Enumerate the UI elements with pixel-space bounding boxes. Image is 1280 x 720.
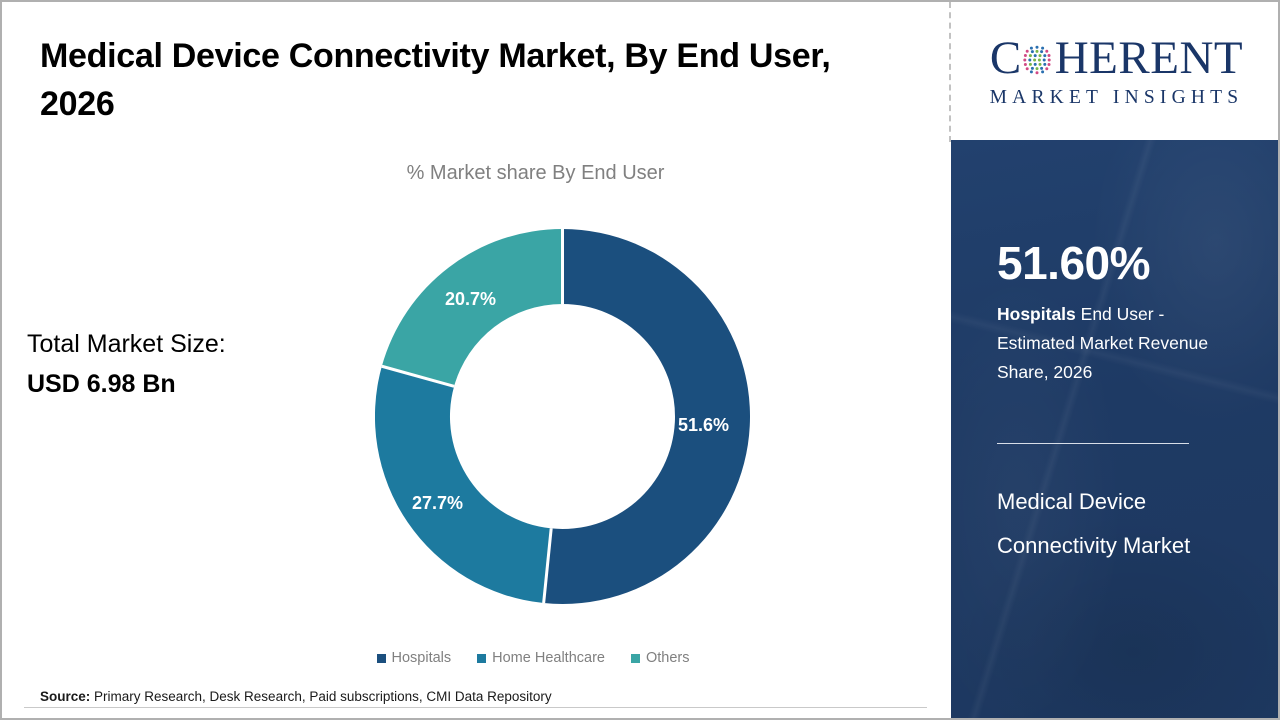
stat-segment-name: Hospitals bbox=[997, 304, 1076, 324]
source-key: Source: bbox=[40, 689, 90, 704]
legend-item-home-healthcare[interactable]: Home Healthcare bbox=[477, 650, 605, 666]
logo-letter-c: C bbox=[990, 35, 1022, 82]
source-divider bbox=[24, 707, 927, 708]
slice-value-hospitals: 51.6% bbox=[678, 415, 729, 436]
total-market-size-block: Total Market Size: USD 6.98 Bn bbox=[27, 324, 327, 404]
market-name: Medical Device Connectivity Market bbox=[997, 480, 1227, 567]
legend-label: Hospitals bbox=[392, 650, 452, 666]
side-panel-content: 51.60% Hospitals End User - Estimated Ma… bbox=[951, 240, 1280, 567]
page-title: Medical Device Connectivity Market, By E… bbox=[40, 32, 870, 129]
chart-subtitle: % Market share By End User bbox=[2, 162, 949, 185]
logo-tagline: MARKET INSIGHTS bbox=[990, 87, 1244, 109]
chart-legend: Hospitals Home Healthcare Others bbox=[2, 650, 949, 666]
headline-stat: 51.60% bbox=[997, 240, 1280, 286]
legend-item-hospitals[interactable]: Hospitals bbox=[377, 650, 452, 666]
legend-swatch-icon bbox=[377, 654, 386, 663]
logo-letters-herent: HERENT bbox=[1055, 35, 1243, 82]
legend-swatch-icon bbox=[631, 654, 640, 663]
total-market-size-value: USD 6.98 Bn bbox=[27, 364, 327, 404]
slice-value-others: 20.7% bbox=[445, 289, 496, 310]
dotted-globe-icon bbox=[1020, 43, 1054, 77]
legend-item-others[interactable]: Others bbox=[631, 650, 690, 666]
legend-swatch-icon bbox=[477, 654, 486, 663]
source-text: Primary Research, Desk Research, Paid su… bbox=[90, 689, 551, 704]
logo-wordmark: C bbox=[990, 33, 1243, 83]
chart-panel: Medical Device Connectivity Market, By E… bbox=[2, 2, 949, 720]
total-market-size-label: Total Market Size: bbox=[27, 324, 327, 364]
side-panel-body: 51.60% Hospitals End User - Estimated Ma… bbox=[951, 140, 1280, 720]
panel-divider bbox=[997, 443, 1189, 444]
donut-chart: 51.6% 27.7% 20.7% bbox=[375, 229, 750, 604]
source-note: Source: Primary Research, Desk Research,… bbox=[40, 689, 552, 704]
brand-logo[interactable]: C bbox=[951, 2, 1280, 140]
infographic-canvas: Medical Device Connectivity Market, By E… bbox=[0, 0, 1280, 720]
legend-label: Others bbox=[646, 650, 690, 666]
side-panel: C bbox=[951, 2, 1280, 720]
headline-stat-description: Hospitals End User - Estimated Market Re… bbox=[997, 300, 1217, 387]
donut-slice-home-healthcare[interactable] bbox=[375, 366, 551, 603]
slice-value-home-healthcare: 27.7% bbox=[412, 493, 463, 514]
legend-label: Home Healthcare bbox=[492, 650, 605, 666]
